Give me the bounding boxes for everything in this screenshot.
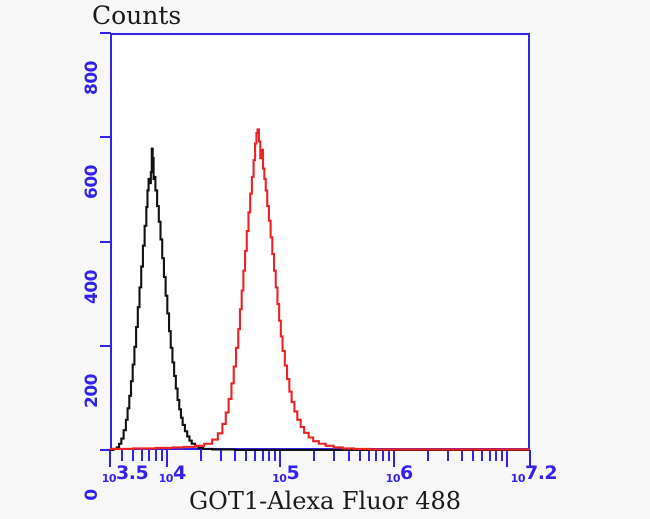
x-tick-mark-minor — [333, 450, 335, 461]
x-axis-title: GOT1-Alexa Fluor 488 — [0, 487, 650, 515]
x-tick-label-exponent: 5 — [286, 462, 299, 484]
trace-got1-alexa-fluor-488 — [110, 129, 530, 449]
x-tick-mark-minor — [495, 450, 497, 461]
x-tick-mark-minor — [245, 450, 247, 461]
histogram-traces — [110, 33, 530, 450]
x-tick-mark-minor — [254, 450, 256, 461]
x-tick-mark-minor — [268, 450, 270, 461]
x-tick-label-exponent: 7.2 — [525, 462, 557, 484]
x-tick-mark-minor — [220, 450, 222, 461]
x-tick-mark-minor — [489, 450, 491, 461]
x-tick-label-exponent: 3.5 — [116, 462, 148, 484]
x-tick-mark-minor — [262, 450, 264, 461]
y-tick-label: 800 — [82, 32, 102, 124]
x-tick-mark-minor — [375, 450, 377, 461]
y-tick-label: 600 — [82, 136, 102, 228]
x-tick-mark-minor — [501, 450, 503, 461]
x-tick-mark-minor — [234, 450, 236, 461]
x-tick-mark-minor — [382, 450, 384, 461]
x-tick-mark-minor — [447, 450, 449, 461]
x-tick-label-base: 10 — [386, 472, 400, 485]
x-tick-mark-major — [506, 450, 508, 467]
y-axis-title: Counts — [92, 1, 181, 30]
y-tick-label: 400 — [82, 241, 102, 333]
x-tick-mark-minor — [155, 450, 157, 461]
trace-isotype-control — [110, 149, 530, 450]
x-tick-mark-minor — [148, 450, 150, 461]
x-tick-mark-minor — [427, 450, 429, 461]
y-tick-label: 200 — [82, 345, 102, 437]
x-tick-mark-minor — [461, 450, 463, 461]
x-tick-mark-minor — [121, 450, 123, 461]
x-tick-mark-minor — [200, 450, 202, 461]
x-tick-mark-minor — [359, 450, 361, 461]
x-tick-label: 104 — [159, 462, 186, 486]
x-tick-label: 107.2 — [511, 462, 557, 486]
x-tick-label-exponent: 6 — [400, 462, 413, 484]
x-tick-label-base: 10 — [511, 472, 525, 485]
x-tick-label: 106 — [386, 462, 413, 486]
x-tick-mark-minor — [368, 450, 370, 461]
x-tick-mark-minor — [481, 450, 483, 461]
x-tick-label: 105 — [272, 462, 299, 486]
x-tick-label-exponent: 4 — [173, 462, 186, 484]
x-tick-mark-minor — [313, 450, 315, 461]
x-tick-label-base: 10 — [272, 472, 286, 485]
x-tick-mark-minor — [161, 450, 163, 461]
x-tick-mark-minor — [132, 450, 134, 461]
x-tick-mark-minor — [388, 450, 390, 461]
flow-cytometry-histogram: Counts 0200400600800 103.5104105106107.2… — [0, 0, 650, 519]
x-tick-mark-minor — [274, 450, 276, 461]
x-tick-mark-minor — [348, 450, 350, 461]
x-tick-mark-minor — [472, 450, 474, 461]
x-tick-mark-minor — [141, 450, 143, 461]
x-tick-label: 103.5 — [102, 462, 148, 486]
x-tick-label-base: 10 — [159, 472, 173, 485]
x-tick-label-base: 10 — [102, 472, 116, 485]
